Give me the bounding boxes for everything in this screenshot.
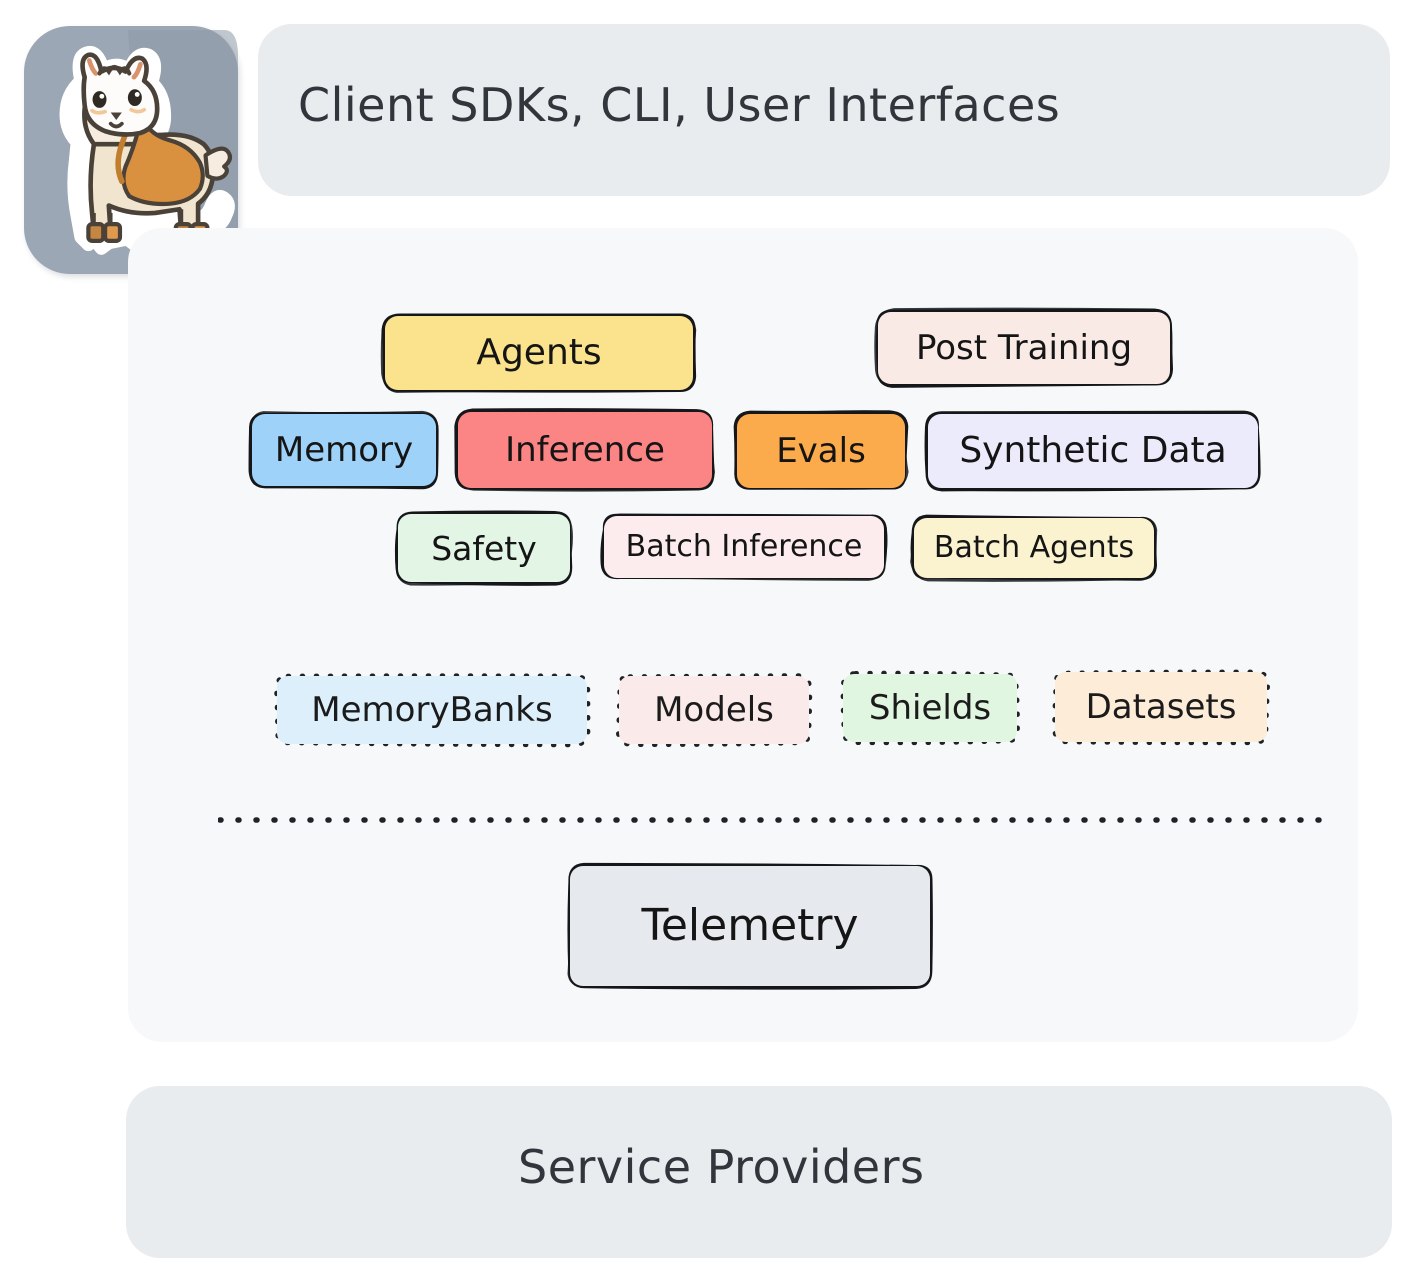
resource-node-memorybanks[interactable]: MemoryBanks bbox=[277, 676, 587, 744]
api-node-agents[interactable]: Agents bbox=[385, 316, 693, 390]
dotted-separator bbox=[218, 816, 1322, 823]
node-label: Batch Inference bbox=[626, 532, 863, 562]
api-node-post-training[interactable]: Post Training bbox=[878, 312, 1170, 384]
node-label: Evals bbox=[776, 434, 866, 468]
node-label: MemoryBanks bbox=[311, 693, 552, 727]
node-label: Memory bbox=[275, 433, 413, 467]
node-label: Datasets bbox=[1086, 690, 1237, 724]
api-node-safety[interactable]: Safety bbox=[398, 514, 570, 582]
resource-node-shields[interactable]: Shields bbox=[843, 674, 1017, 742]
node-label: Inference bbox=[505, 433, 665, 467]
telemetry-node[interactable]: Telemetry bbox=[570, 866, 930, 986]
node-label: Telemetry bbox=[641, 904, 858, 948]
api-node-synthetic-data[interactable]: Synthetic Data bbox=[928, 414, 1258, 488]
diagram-canvas: Client SDKs, CLI, User Interfaces bbox=[0, 0, 1410, 1268]
node-label: Safety bbox=[431, 532, 537, 565]
api-node-inference[interactable]: Inference bbox=[458, 412, 712, 488]
node-label: Post Training bbox=[916, 331, 1132, 365]
node-label: Batch Agents bbox=[934, 533, 1134, 563]
service-providers-label: Service Providers bbox=[518, 1140, 925, 1194]
node-label: Models bbox=[654, 693, 774, 727]
api-node-batch-agents[interactable]: Batch Agents bbox=[914, 518, 1154, 578]
node-label: Synthetic Data bbox=[959, 433, 1226, 469]
api-node-memory[interactable]: Memory bbox=[252, 414, 436, 486]
node-label: Agents bbox=[476, 335, 601, 371]
client-interfaces-label: Client SDKs, CLI, User Interfaces bbox=[298, 78, 1060, 132]
api-node-evals[interactable]: Evals bbox=[737, 414, 905, 488]
resource-node-models[interactable]: Models bbox=[619, 676, 809, 744]
api-node-batch-inference[interactable]: Batch Inference bbox=[604, 516, 884, 578]
resource-node-datasets[interactable]: Datasets bbox=[1055, 672, 1267, 742]
node-label: Shields bbox=[869, 691, 991, 725]
